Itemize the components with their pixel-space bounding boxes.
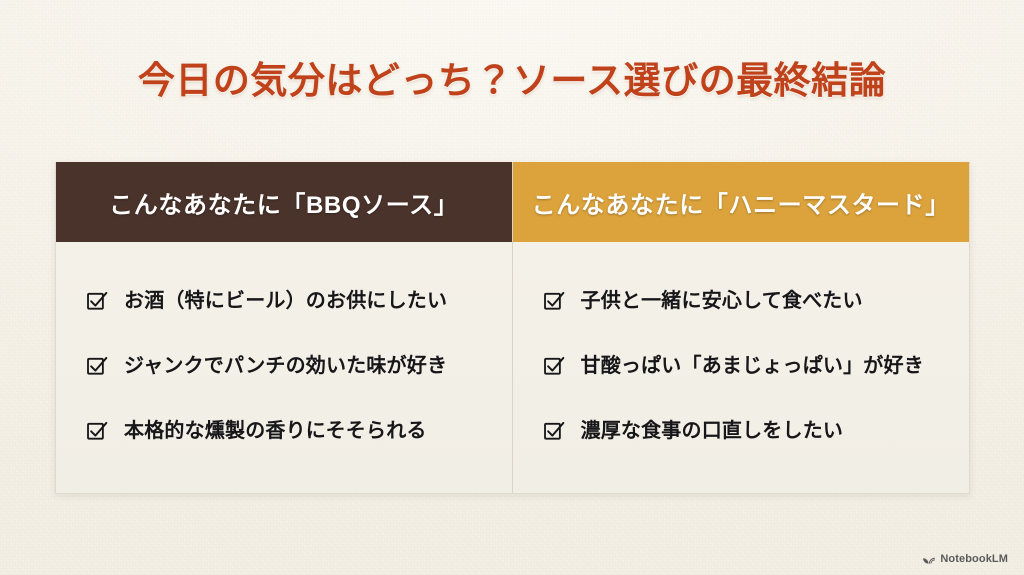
comparison-column-bbq: こんなあなたに「BBQソース」 お酒（特にビール）のお供にしたい xyxy=(56,162,513,493)
checkbox-checked-icon xyxy=(543,290,565,312)
column-header-label: こんなあなたに「ハニーマスタード」 xyxy=(532,185,950,220)
checkbox-checked-icon xyxy=(86,355,108,377)
slide-canvas: 今日の気分はどっち？ソース選びの最終結論 こんなあなたに「BBQソース」 お酒（… xyxy=(0,0,1024,575)
list-item-label: 濃厚な食事の口直しをしたい xyxy=(581,418,844,444)
list-item: 本格的な燻製の香りにそそられる xyxy=(56,418,512,444)
checkbox-checked-icon xyxy=(86,290,108,312)
list-item: お酒（特にビール）のお供にしたい xyxy=(56,288,512,314)
list-item: 甘酸っぱい「あまじょっぱい」が好き xyxy=(513,353,970,379)
list-item-label: 本格的な燻製の香りにそそられる xyxy=(124,418,427,444)
notebooklm-logo-icon xyxy=(922,552,935,565)
checkbox-checked-icon xyxy=(543,355,565,377)
list-item: 濃厚な食事の口直しをしたい xyxy=(513,418,970,444)
checklist-honey-mustard: 子供と一緒に安心して食べたい 甘酸っぱい「あまじょっぱい」が好き xyxy=(513,242,970,493)
checkbox-checked-icon xyxy=(86,420,108,442)
checkbox-checked-icon xyxy=(543,420,565,442)
page-title: 今日の気分はどっち？ソース選びの最終結論 xyxy=(0,58,1024,104)
list-item-label: お酒（特にビール）のお供にしたい xyxy=(124,288,447,314)
checklist-bbq: お酒（特にビール）のお供にしたい ジャンクでパンチの効いた味が好き xyxy=(56,242,512,493)
list-item-label: 子供と一緒に安心して食べたい xyxy=(581,288,863,314)
list-item-label: 甘酸っぱい「あまじょっぱい」が好き xyxy=(581,353,924,379)
notebooklm-watermark-label: NotebookLM xyxy=(940,553,1008,565)
notebooklm-watermark: NotebookLM xyxy=(922,552,1008,565)
list-item: 子供と一緒に安心して食べたい xyxy=(513,288,970,314)
comparison-column-honey-mustard: こんなあなたに「ハニーマスタード」 子供と一緒に安心して食べたい xyxy=(513,162,970,493)
column-header-bbq: こんなあなたに「BBQソース」 xyxy=(56,162,512,242)
column-header-label: こんなあなたに「BBQソース」 xyxy=(109,185,458,220)
list-item-label: ジャンクでパンチの効いた味が好き xyxy=(124,353,447,379)
column-header-honey-mustard: こんなあなたに「ハニーマスタード」 xyxy=(513,162,970,242)
comparison-card: こんなあなたに「BBQソース」 お酒（特にビール）のお供にしたい xyxy=(55,162,970,494)
list-item: ジャンクでパンチの効いた味が好き xyxy=(56,353,512,379)
